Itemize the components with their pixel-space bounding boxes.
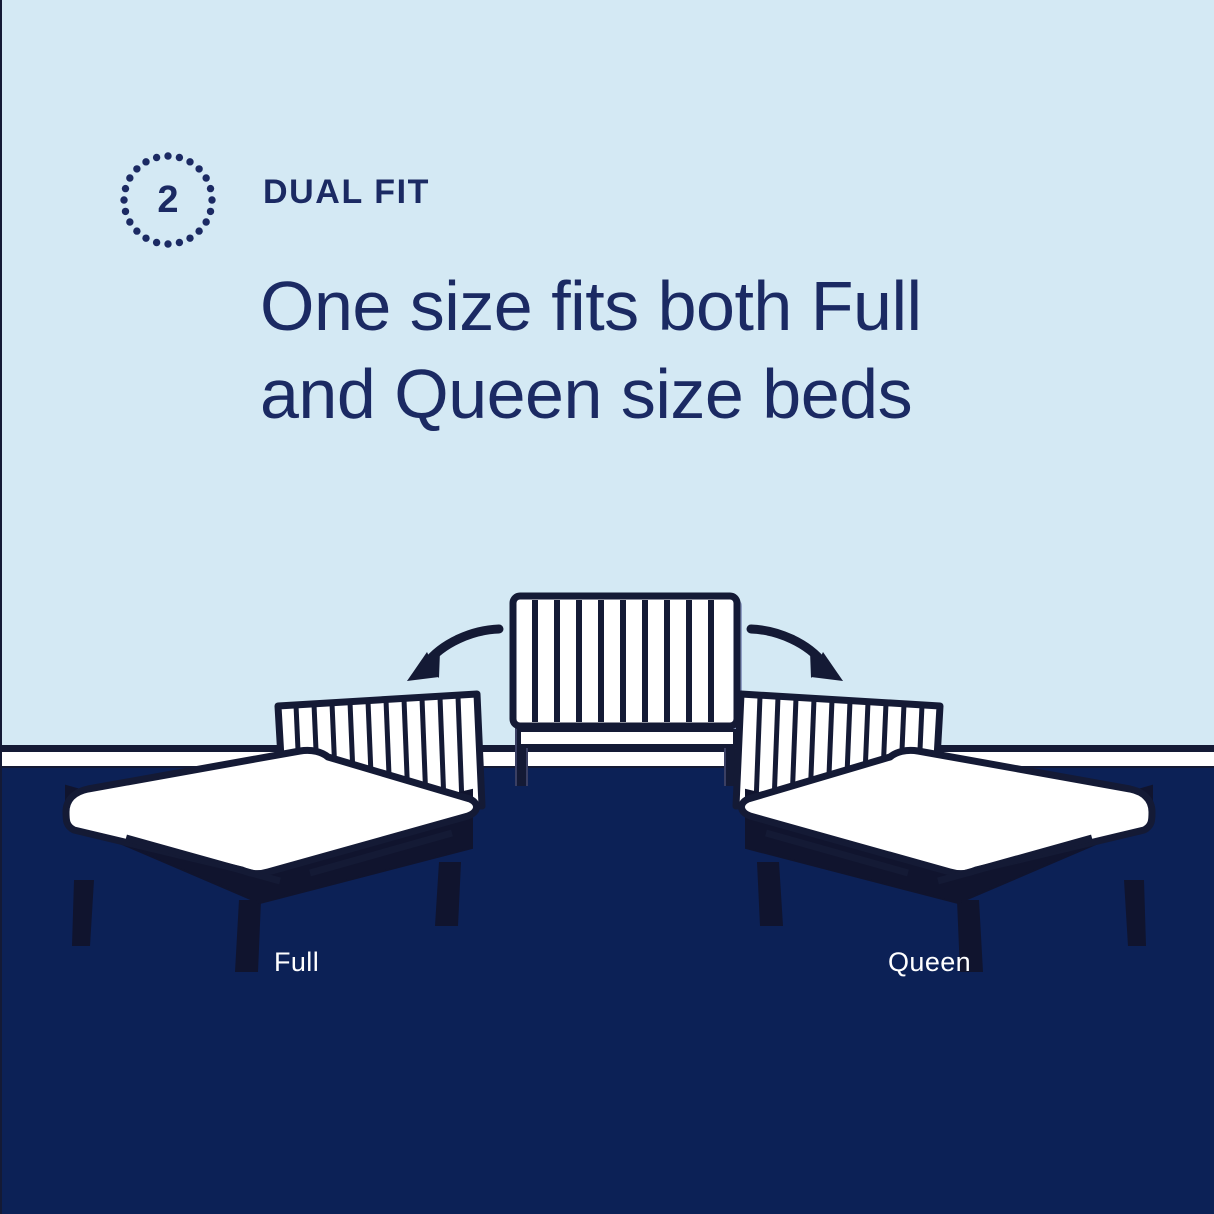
- baseboard-strip: [2, 752, 1214, 767]
- wall-floor-divider-line: [2, 745, 1214, 752]
- page-title: One size fits both Full and Queen size b…: [260, 262, 1060, 438]
- step-badge: 2: [120, 152, 216, 248]
- headline-line-2: and Queen size beds: [260, 350, 1060, 438]
- section-eyebrow-label: DUAL FIT: [263, 172, 430, 212]
- headline-line-1: One size fits both Full: [260, 262, 1060, 350]
- bed-label-full: Full: [274, 947, 319, 978]
- floor-background: [2, 768, 1214, 1214]
- bed-label-queen: Queen: [888, 947, 971, 978]
- infographic-canvas: 2 DUAL FIT One size fits both Full and Q…: [0, 0, 1214, 1214]
- step-number: 2: [120, 152, 216, 248]
